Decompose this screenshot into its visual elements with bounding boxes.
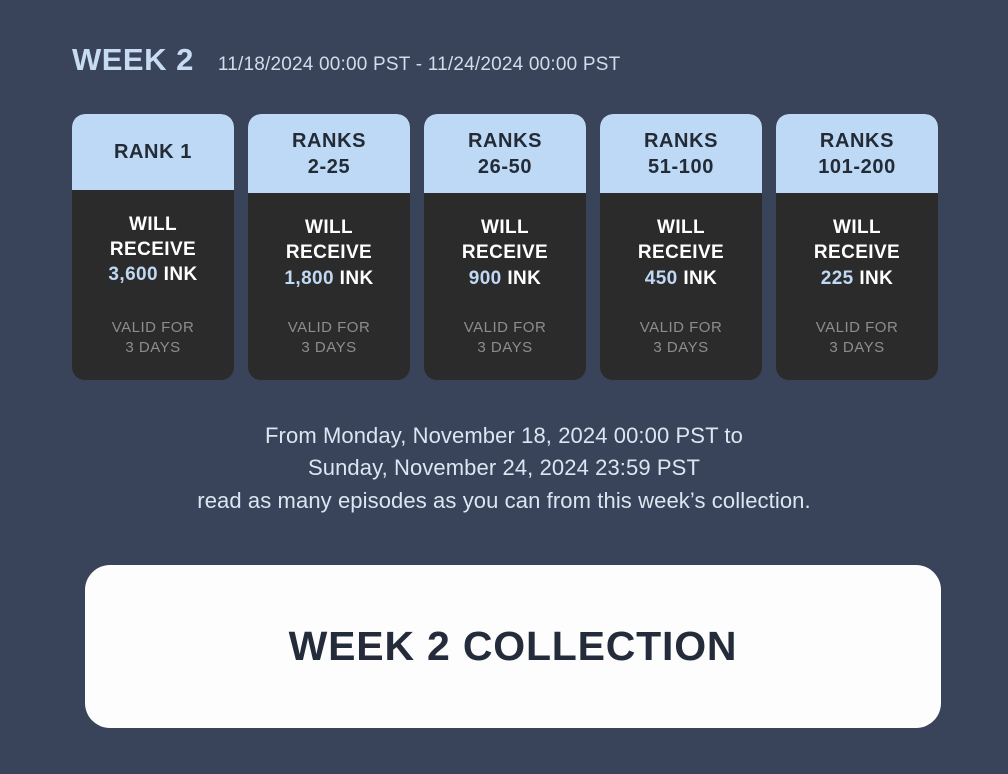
reward-amount-line: 225 INK xyxy=(814,266,900,291)
rank-range-label: RANKS 51-100 xyxy=(644,129,718,180)
rank-range-label: RANKS 101-200 xyxy=(818,129,896,180)
reward-validity: VALID FOR 3 DAYS xyxy=(816,318,899,360)
rank-reward-body: WILL RECEIVE 450 INK VALID FOR 3 DAYS xyxy=(600,193,762,380)
rank-range-label-line1: RANKS xyxy=(292,130,366,152)
reward-amount-value: 1,800 xyxy=(284,268,334,289)
reward-amount-line: 1,800 INK xyxy=(284,266,373,291)
reward-amount-value: 3,600 xyxy=(108,264,158,285)
rank-range-label-line2: 51-100 xyxy=(648,156,714,178)
rank-range-label-line1: RANKS xyxy=(644,130,718,152)
rank-range-header: RANKS 2-25 xyxy=(248,114,410,193)
rank-reward-cards: RANK 1 WILL RECEIVE 3,600 INK VALID FOR … xyxy=(72,114,938,380)
reward-amount-line: 3,600 INK xyxy=(108,262,197,287)
rank-reward-body: WILL RECEIVE 1,800 INK VALID FOR 3 DAYS xyxy=(248,193,410,380)
reward-amount-unit: INK xyxy=(507,268,541,289)
validity-line2: 3 DAYS xyxy=(464,338,547,358)
validity-line1: VALID FOR xyxy=(112,318,195,338)
rank-range-label-line1: RANKS xyxy=(820,130,894,152)
reward-amount-line: 450 INK xyxy=(638,266,724,291)
receive-label-line1: WILL xyxy=(462,215,548,240)
rank-range-header: RANKS 51-100 xyxy=(600,114,762,193)
reward-amount-unit: INK xyxy=(340,268,374,289)
receive-label-line2: RECEIVE xyxy=(638,240,724,265)
description-line-1: From Monday, November 18, 2024 00:00 PST… xyxy=(0,420,1008,452)
reward-amount-block: WILL RECEIVE 3,600 INK xyxy=(108,212,197,288)
receive-label-line1: WILL xyxy=(108,212,197,237)
validity-line2: 3 DAYS xyxy=(288,338,371,358)
description-line-2: Sunday, November 24, 2024 23:59 PST xyxy=(0,452,1008,484)
event-rewards-panel: WEEK 2 11/18/2024 00:00 PST - 11/24/2024… xyxy=(0,0,1008,774)
validity-line2: 3 DAYS xyxy=(816,338,899,358)
rank-range-label-line2: 2-25 xyxy=(308,156,350,178)
validity-line1: VALID FOR xyxy=(288,318,371,338)
week-title: WEEK 2 xyxy=(72,44,194,75)
event-date-range: 11/18/2024 00:00 PST - 11/24/2024 00:00 … xyxy=(218,55,621,74)
rank-reward-body: WILL RECEIVE 225 INK VALID FOR 3 DAYS xyxy=(776,193,938,380)
reward-amount-value: 225 xyxy=(821,268,854,289)
reward-validity: VALID FOR 3 DAYS xyxy=(464,318,547,360)
rank-range-label-line2: 101-200 xyxy=(818,156,896,178)
validity-line1: VALID FOR xyxy=(816,318,899,338)
reward-amount-unit: INK xyxy=(164,264,198,285)
receive-label-line1: WILL xyxy=(814,215,900,240)
event-description: From Monday, November 18, 2024 00:00 PST… xyxy=(0,420,1008,517)
reward-validity: VALID FOR 3 DAYS xyxy=(112,318,195,360)
reward-amount-value: 900 xyxy=(469,268,502,289)
validity-line1: VALID FOR xyxy=(640,318,723,338)
rank-reward-body: WILL RECEIVE 900 INK VALID FOR 3 DAYS xyxy=(424,193,586,380)
rank-reward-card[interactable]: RANKS 2-25 WILL RECEIVE 1,800 INK VALID … xyxy=(248,114,410,380)
rank-range-header: RANKS 26-50 xyxy=(424,114,586,193)
rank-reward-body: WILL RECEIVE 3,600 INK VALID FOR 3 DAYS xyxy=(72,190,234,380)
rank-reward-card[interactable]: RANKS 51-100 WILL RECEIVE 450 INK VALID … xyxy=(600,114,762,380)
rank-range-label: RANKS 2-25 xyxy=(292,129,366,180)
receive-label-line2: RECEIVE xyxy=(284,240,373,265)
rank-range-label-line1: RANKS xyxy=(468,130,542,152)
reward-amount-unit: INK xyxy=(859,268,893,289)
rank-reward-card[interactable]: RANKS 26-50 WILL RECEIVE 900 INK VALID F… xyxy=(424,114,586,380)
rank-reward-card[interactable]: RANKS 101-200 WILL RECEIVE 225 INK VALID… xyxy=(776,114,938,380)
rank-range-header: RANKS 101-200 xyxy=(776,114,938,193)
receive-label-line2: RECEIVE xyxy=(814,240,900,265)
validity-line2: 3 DAYS xyxy=(112,338,195,358)
reward-validity: VALID FOR 3 DAYS xyxy=(288,318,371,360)
reward-amount-block: WILL RECEIVE 225 INK xyxy=(814,215,900,291)
receive-label-line2: RECEIVE xyxy=(108,237,197,262)
reward-amount-value: 450 xyxy=(645,268,678,289)
reward-validity: VALID FOR 3 DAYS xyxy=(640,318,723,360)
reward-amount-block: WILL RECEIVE 1,800 INK xyxy=(284,215,373,291)
description-line-3: read as many episodes as you can from th… xyxy=(0,485,1008,517)
rank-range-label-line1: RANK 1 xyxy=(114,140,192,166)
receive-label-line1: WILL xyxy=(638,215,724,240)
validity-line1: VALID FOR xyxy=(464,318,547,338)
receive-label-line1: WILL xyxy=(284,215,373,240)
reward-amount-block: WILL RECEIVE 450 INK xyxy=(638,215,724,291)
week-collection-button[interactable]: WEEK 2 COLLECTION xyxy=(85,565,941,728)
reward-amount-line: 900 INK xyxy=(462,266,548,291)
reward-amount-block: WILL RECEIVE 900 INK xyxy=(462,215,548,291)
rank-range-header: RANK 1 xyxy=(72,114,234,190)
receive-label-line2: RECEIVE xyxy=(462,240,548,265)
event-header: WEEK 2 11/18/2024 00:00 PST - 11/24/2024… xyxy=(72,44,620,75)
rank-range-label-line2: 26-50 xyxy=(478,156,532,178)
validity-line2: 3 DAYS xyxy=(640,338,723,358)
rank-range-label: RANKS 26-50 xyxy=(468,129,542,180)
reward-amount-unit: INK xyxy=(683,268,717,289)
rank-reward-card[interactable]: RANK 1 WILL RECEIVE 3,600 INK VALID FOR … xyxy=(72,114,234,380)
